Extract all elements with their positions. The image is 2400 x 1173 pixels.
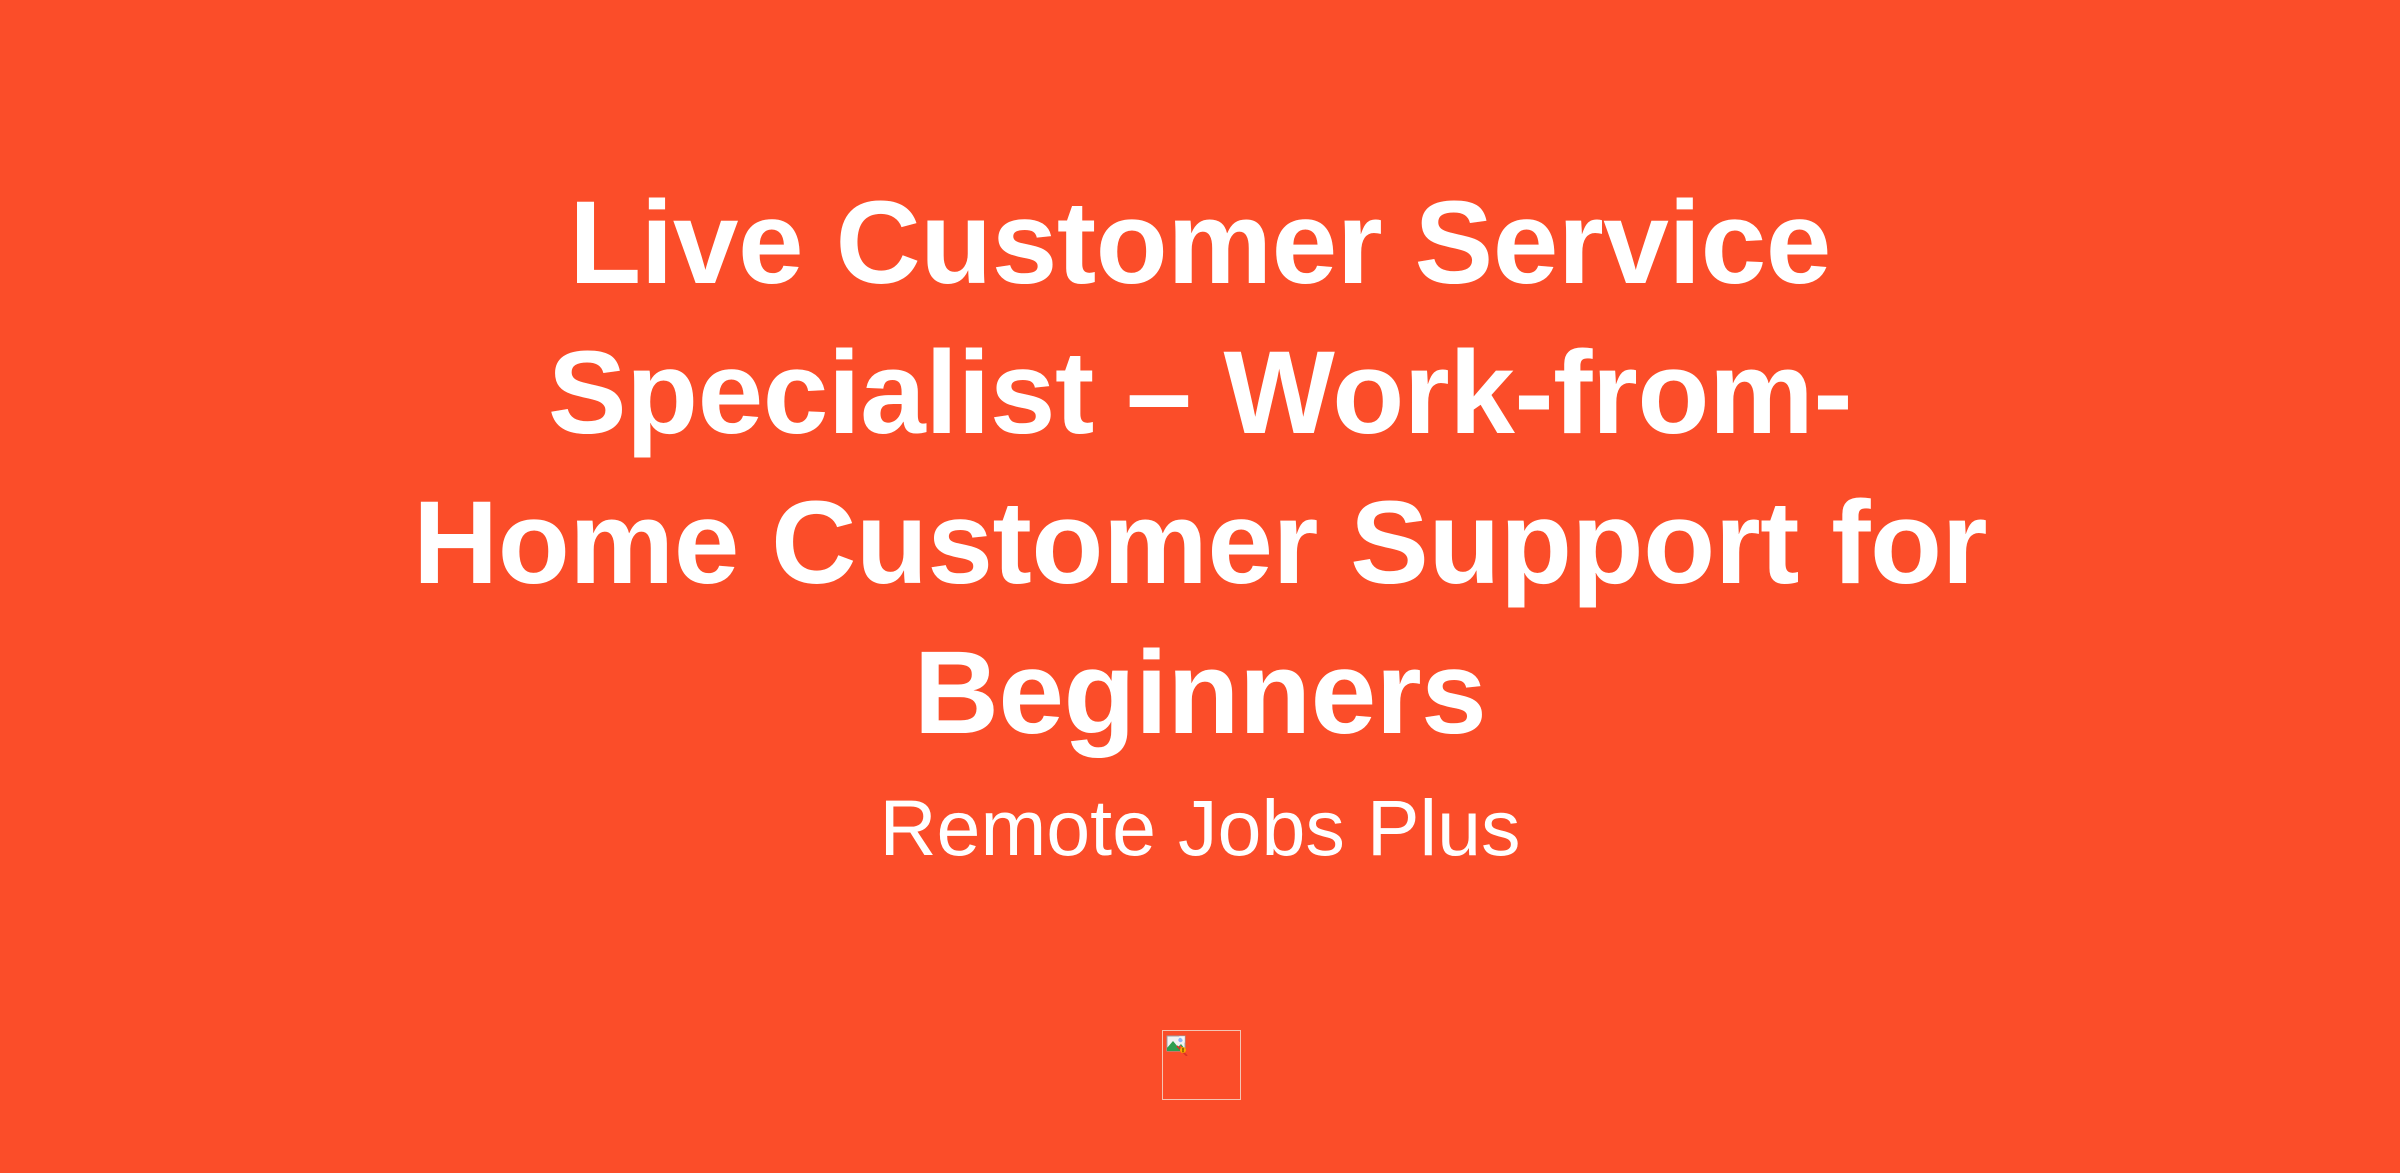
page-subtitle: Remote Jobs Plus bbox=[879, 768, 1520, 876]
broken-image-placeholder[interactable] bbox=[1162, 1030, 1241, 1100]
hero-copy-block: Live Customer Service Specialist – Work-… bbox=[380, 168, 2020, 876]
broken-image-icon bbox=[1166, 1034, 1188, 1056]
hero-slide: Live Customer Service Specialist – Work-… bbox=[0, 0, 2400, 1173]
page-title: Live Customer Service Specialist – Work-… bbox=[390, 168, 2010, 768]
broken-image-frame bbox=[1162, 1030, 1241, 1100]
